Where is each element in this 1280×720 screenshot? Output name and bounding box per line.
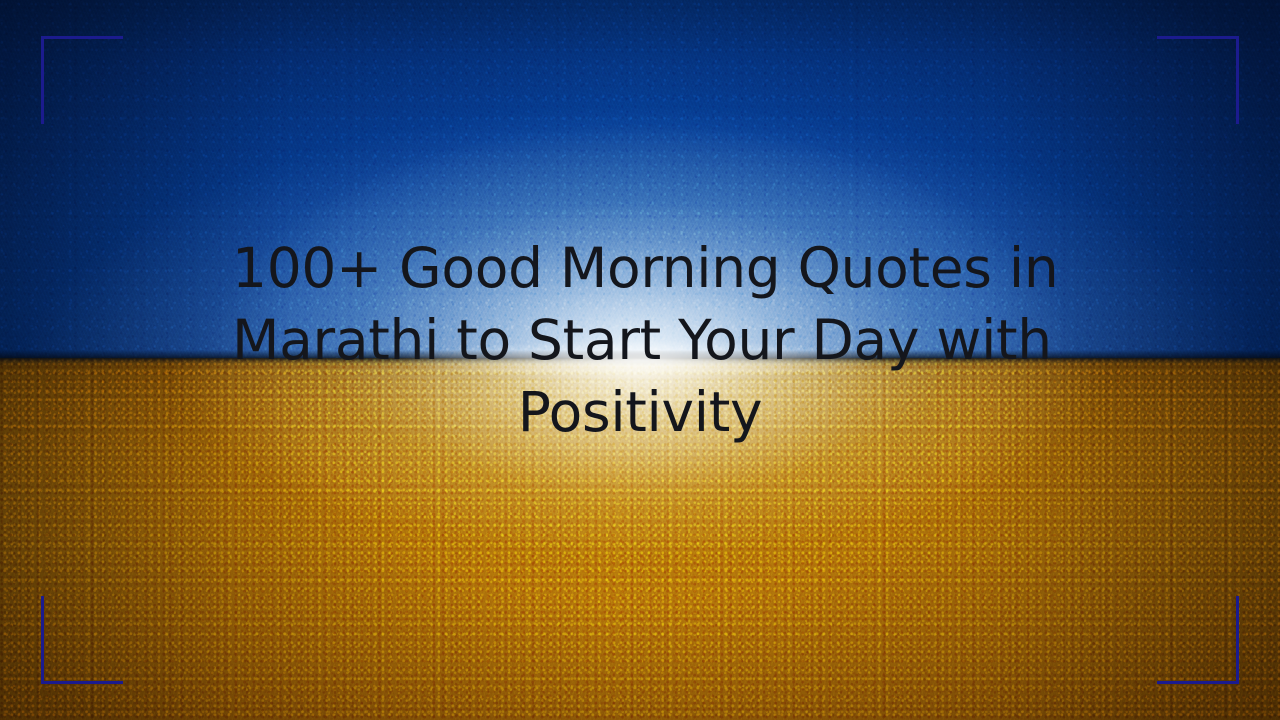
bracket-arm-vertical — [1236, 596, 1239, 684]
bracket-arm-vertical — [1236, 36, 1239, 124]
bracket-arm-vertical — [41, 596, 44, 684]
banner-image: 100+ Good Morning Quotes in Marathi to S… — [0, 0, 1280, 720]
bracket-arm-horizontal — [41, 36, 123, 39]
bracket-arm-horizontal — [1157, 36, 1239, 39]
headline-line-2: Marathi to Start Your Day with — [232, 304, 1048, 376]
corner-bracket-bottom-left — [41, 596, 123, 684]
corner-bracket-top-left — [41, 36, 123, 124]
banner-headline: 100+ Good Morning Quotes in Marathi to S… — [232, 232, 1048, 448]
bracket-arm-vertical — [41, 36, 44, 124]
headline-line-1: 100+ Good Morning Quotes in — [232, 232, 1048, 304]
headline-line-3: Positivity — [232, 376, 1048, 448]
bracket-arm-horizontal — [1157, 681, 1239, 684]
corner-bracket-top-right — [1157, 36, 1239, 124]
corner-bracket-bottom-right — [1157, 596, 1239, 684]
bracket-arm-horizontal — [41, 681, 123, 684]
